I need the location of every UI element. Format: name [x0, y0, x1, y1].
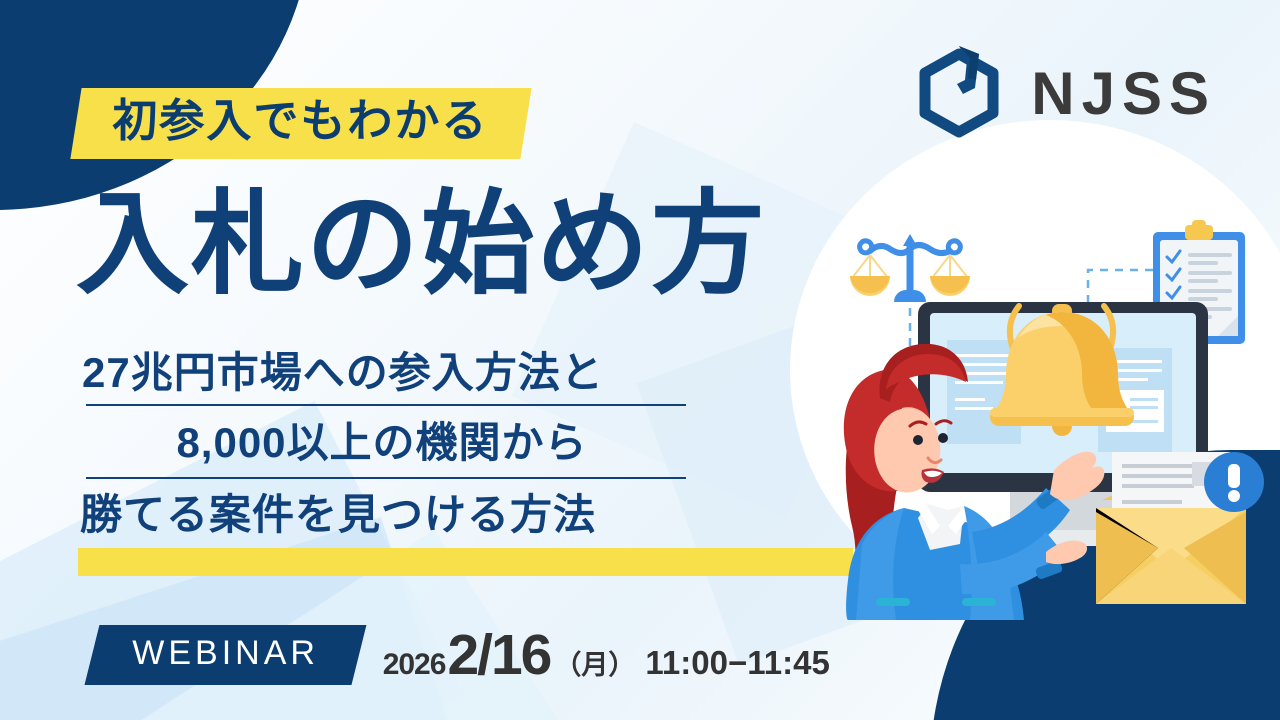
njss-logo: NJSS [913, 44, 1216, 144]
schedule-bar: WEBINAR 2026 2/16 （月） 11:00−11:45 [92, 622, 830, 688]
schedule-month-day: 2/16 [445, 622, 552, 688]
eyebrow-ribbon: 初参入でもわかる [70, 88, 531, 159]
subtitle-line-2: 8,000以上の機関から [72, 408, 692, 478]
webinar-tag-label: WEBINAR [132, 636, 319, 672]
balance-scales-icon [850, 234, 970, 302]
alert-exclamation-badge-icon [1204, 452, 1264, 512]
schedule-year: 2026 [383, 648, 446, 682]
subtitle-line-1: 27兆円市場への参入方法と [72, 352, 872, 408]
njss-wordmark: NJSS [1031, 64, 1216, 124]
webinar-tag: WEBINAR [85, 625, 367, 685]
njss-hexagon-ballot-logo-icon [913, 44, 1005, 144]
schedule-day-of-week: （月） [552, 643, 645, 682]
schedule-datetime: 2026 2/16 （月） 11:00−11:45 [383, 622, 830, 688]
schedule-time: 11:00−11:45 [645, 644, 829, 682]
eyebrow-text: 初参入でもわかる [112, 97, 488, 146]
bidding-notification-illustration [840, 212, 1270, 620]
subtitle-divider-1 [86, 404, 686, 406]
page-title: 入札の始め方 [76, 182, 766, 306]
subtitle-highlight-bar [78, 548, 853, 576]
subtitle-line-3: 勝てる案件を見つける方法 [72, 478, 872, 536]
subtitle-block: 27兆円市場への参入方法と 8,000以上の機関から 勝てる案件を見つける方法 [72, 352, 872, 536]
webinar-banner: NJSS 初参入でもわかる 入札の始め方 27兆円市場への参入方法と 8,000… [0, 0, 1280, 720]
